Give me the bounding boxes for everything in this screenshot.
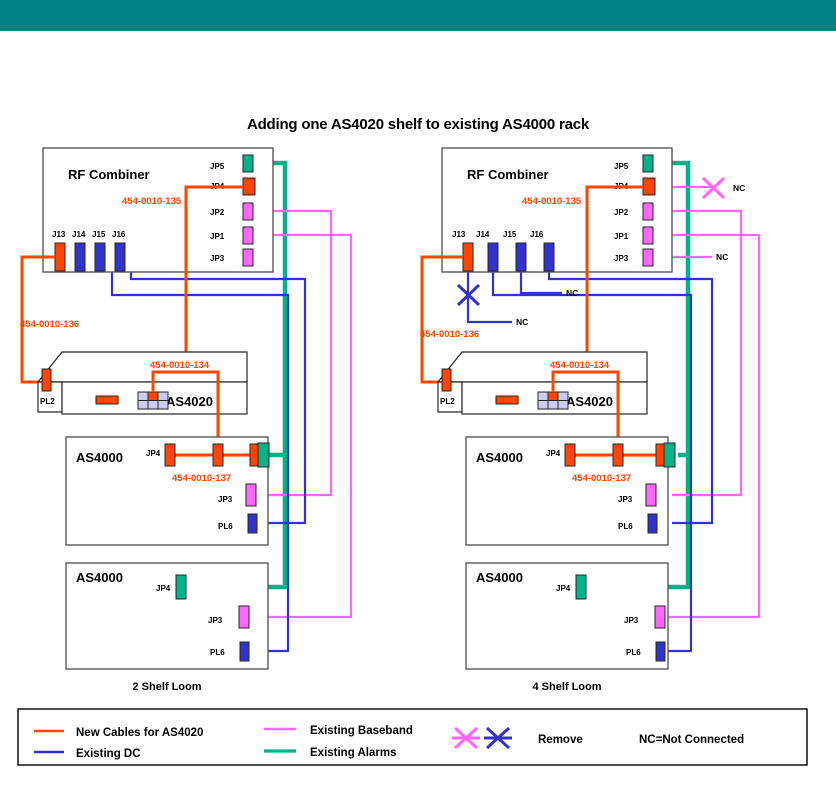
as4000-mid-title-left: AS4000 [76,450,123,465]
port-jp5-left [243,155,253,172]
port-jp2-right [643,203,653,220]
cable-label-135-left: 454-0010-135 [122,196,182,207]
port-j14-left [75,243,85,271]
nc-label-jp4-right: NC [733,183,745,193]
port-jp5-right [643,155,653,172]
wire-dc-right-j15-nc [521,270,562,293]
as4020-title-right: AS4020 [566,394,613,409]
cable-label-135-right: 454-0010-135 [522,196,582,207]
as4020-grid-connector-left [138,392,168,409]
port-jp3-mid-left [246,484,256,506]
caption-left: 2 Shelf Loom [132,681,201,693]
port-label-jp4-bottom-left: JP4 [156,584,171,593]
port-label-j15-left: J15 [92,230,106,239]
connector-alarms-mid-right [664,443,675,467]
port-jp4-bottom-right [576,575,586,599]
port-jp4-bottom-left [176,575,186,599]
port-label-j16-left: J16 [112,230,126,239]
port-pl2-left [42,369,51,391]
port-label-jp2-right: JP2 [614,208,629,217]
port-label-jp3-left: JP3 [210,254,225,263]
port-label-pl6-mid-right: PL6 [618,522,633,531]
port-pl6-mid-left [248,514,257,533]
port-j15-left [95,243,105,271]
legend-label-new-cables: New Cables for AS4020 [76,727,203,739]
legend-label-existing-baseband: Existing Baseband [310,725,413,737]
legend-label-existing-alarms: Existing Alarms [310,747,397,759]
port-label-j13-left: J13 [52,230,66,239]
port-jp2-left [243,203,253,220]
port-label-jp3-mid-left: JP3 [218,495,233,504]
port-jp1-right [643,227,653,244]
port-label-jp4-mid-left: JP4 [146,449,161,458]
as4020-shelf-right: AS4020 PL2 [438,352,647,414]
port-label-jp2-left: JP2 [210,208,225,217]
connector-mid-left [213,444,223,466]
legend-label-nc-note: NC=Not Connected [639,734,744,746]
port-jp3-right [643,249,653,266]
as4000-bottom-title-right: AS4000 [476,570,523,585]
port-pl6-bottom-right [656,642,665,661]
cable-label-136-left: 454-0010-136 [20,319,79,330]
port-label-jp3-mid-right: JP3 [618,495,633,504]
port-label-pl6-bottom-left: PL6 [210,648,225,657]
as4000-mid-title-right: AS4000 [476,450,523,465]
port-label-jp5-left: JP5 [210,162,225,171]
port-label-j14-left: J14 [72,230,86,239]
port-j16-left [115,243,125,271]
port-jp4-mid-left [165,444,175,466]
port-label-jp1-left: JP1 [210,232,225,241]
port-j13-left [55,243,65,271]
port-label-jp3-right: JP3 [614,254,629,263]
port-jp4-left [243,178,255,195]
port-label-j13-right: J13 [452,230,466,239]
port-pl6-mid-right [648,514,657,533]
wire-baseband-right-jp2 [671,211,741,495]
nc-label-j15-right: NC [566,288,578,298]
port-label-pl2-right: PL2 [440,397,455,406]
port-j14-right [488,243,498,271]
port-label-jp4-bottom-right: JP4 [556,584,571,593]
legend-label-existing-dc: Existing DC [76,748,141,760]
port-label-pl6-bottom-right: PL6 [626,648,641,657]
caption-right: 4 Shelf Loom [532,681,601,693]
as4020-connector-left [96,396,118,404]
nc-label-jp3-right: NC [716,252,728,262]
port-jp4-right [643,178,655,195]
cable-label-137-right: 454-0010-137 [572,473,631,484]
port-j13-right [463,243,473,271]
nc-label-j13-right: NC [516,317,528,327]
port-jp3-left [243,249,253,266]
cable-label-136-right: 454-0010-136 [420,329,479,340]
diagram-right: RF Combiner J13 J14 J15 J16 JP5 JP4 JP2 … [420,148,759,693]
diagram-left: RF Combiner J13 J14 J15 J16 JP5 JP4 JP2 … [20,148,351,693]
port-label-jp3-bottom-left: JP3 [208,616,223,625]
port-pl2-right [442,369,451,391]
port-label-pl2-left: PL2 [40,397,55,406]
wire-baseband-left-jp1 [248,235,351,617]
port-jp3-bottom-left [239,606,249,628]
rf-combiner-title-right: RF Combiner [467,167,549,182]
cable-label-134-right: 454-0010-134 [550,360,610,371]
port-j16-right [544,243,554,271]
port-jp3-mid-right [646,484,656,506]
as4020-connector-right [496,396,518,404]
legend: New Cables for AS4020 Existing DC Existi… [18,709,807,765]
as4000-bottom-title-left: AS4000 [76,570,123,585]
as4020-grid-connector-right [538,392,568,409]
as4020-title-left: AS4020 [166,394,213,409]
port-jp4-mid-right [565,444,575,466]
port-jp1-left [243,227,253,244]
port-jp3-bottom-right [655,606,665,628]
as4020-shelf-left: AS4020 PL2 [38,352,247,414]
port-label-jp3-bottom-right: JP3 [624,616,639,625]
port-label-j16-right: J16 [530,230,544,239]
port-label-jp4-mid-right: JP4 [546,449,561,458]
port-label-pl6-mid-left: PL6 [218,522,233,531]
cable-label-134-left: 454-0010-134 [150,360,210,371]
diagram-canvas: RF Combiner J13 J14 J15 J16 JP5 JP4 JP2 … [0,0,836,800]
port-label-jp1-right: JP1 [614,232,629,241]
rf-combiner-title-left: RF Combiner [68,167,150,182]
connector-alarms-mid-left [258,443,269,467]
port-label-jp5-right: JP5 [614,162,629,171]
port-j15-right [516,243,526,271]
legend-label-remove: Remove [538,734,583,746]
port-label-j14-right: J14 [476,230,490,239]
port-label-j15-right: J15 [503,230,517,239]
cable-label-137-left: 454-0010-137 [172,473,231,484]
port-pl6-bottom-left [240,642,249,661]
connector-mid-right-a [613,444,623,466]
